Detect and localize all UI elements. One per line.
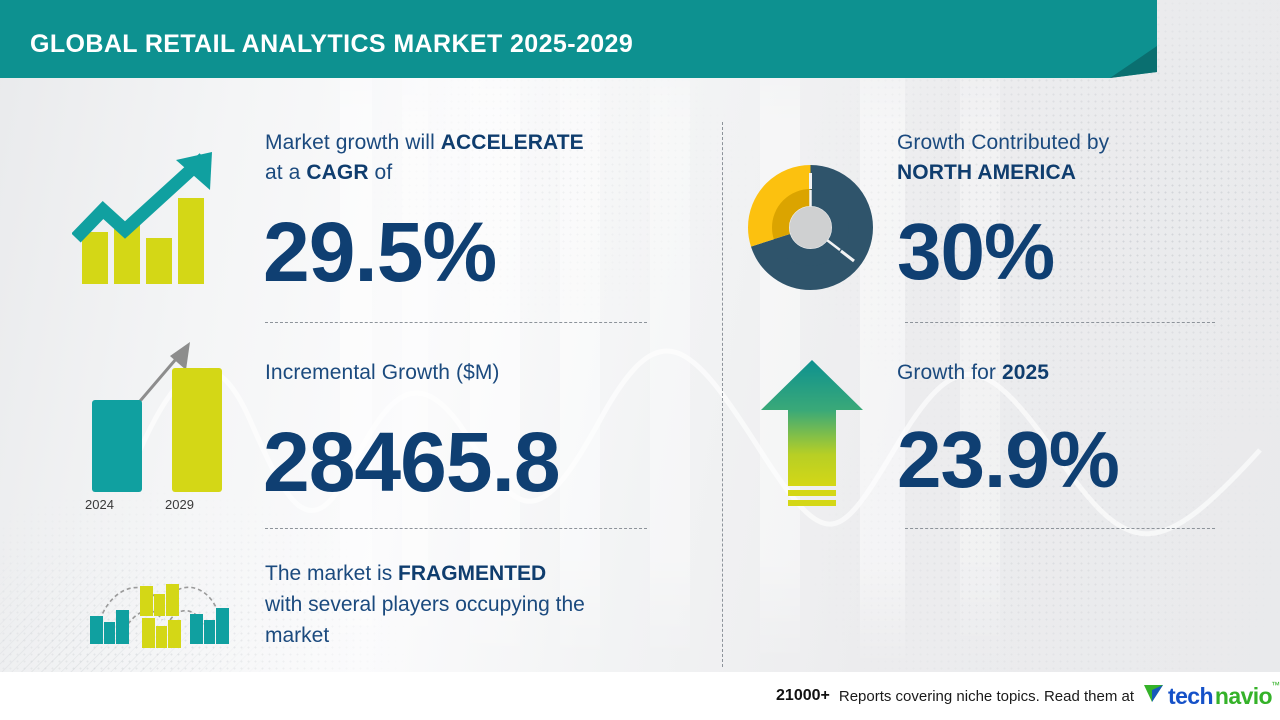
fragmentation-fragmented: FRAGMENTED: [398, 562, 546, 585]
cagr-caption-line2-pre: at a: [265, 161, 306, 184]
bar-label-2029: 2029: [165, 497, 194, 512]
cagr-value: 29.5%: [263, 210, 496, 294]
year-growth-caption-year: 2025: [1002, 361, 1049, 384]
logo-trademark: ™: [1271, 680, 1280, 690]
fragmentation-line1-pre: The market is: [265, 562, 398, 585]
incremental-growth-caption: Incremental Growth ($M): [265, 358, 695, 388]
city-clusters-icon: [72, 558, 247, 658]
logo-text-navio: navio: [1215, 683, 1272, 710]
left-divider-1: [265, 322, 647, 323]
up-arrow-gradient-icon: [760, 358, 865, 518]
donut-chart-icon: [748, 165, 873, 295]
footer-content: 21000+ Reports covering niche topics. Re…: [776, 682, 1272, 710]
region-value: 30%: [897, 212, 1054, 292]
region-caption-line1: Growth Contributed by: [897, 131, 1109, 154]
infographic-page: GLOBAL RETAIL ANALYTICS MARKET 2025-2029…: [0, 0, 1280, 720]
cagr-caption: Market growth will ACCELERATE at a CAGR …: [265, 128, 695, 188]
two-bar-comparison-icon: [60, 332, 230, 497]
cagr-caption-cagr: CAGR: [306, 161, 368, 184]
year-growth-value: 23.9%: [897, 420, 1119, 500]
footer-tagline: Reports covering niche topics. Read them…: [839, 688, 1134, 705]
region-caption-north-america: NORTH AMERICA: [897, 161, 1076, 184]
fragmentation-text: The market is FRAGMENTED with several pl…: [265, 558, 685, 651]
logo-text-tech: tech: [1168, 683, 1213, 710]
bar-label-2024: 2024: [85, 497, 114, 512]
footer-bar: 21000+ Reports covering niche topics. Re…: [0, 672, 1280, 720]
left-divider-2: [265, 528, 647, 529]
cagr-caption-accelerate: ACCELERATE: [441, 131, 584, 154]
incremental-growth-value: 28465.8: [263, 420, 560, 504]
header-banner: GLOBAL RETAIL ANALYTICS MARKET 2025-2029: [0, 0, 1280, 85]
right-divider-2: [905, 528, 1215, 529]
fragmentation-line3: market: [265, 624, 329, 647]
right-divider-1: [905, 322, 1215, 323]
region-caption: Growth Contributed by NORTH AMERICA: [897, 128, 1227, 188]
growth-bar-arrow-icon: [72, 150, 232, 295]
triangle-arrow-icon: [1143, 682, 1165, 704]
fragmentation-line2: with several players occupying the: [265, 593, 585, 616]
page-title: GLOBAL RETAIL ANALYTICS MARKET 2025-2029: [30, 30, 633, 59]
footer-report-count: 21000+: [776, 687, 830, 705]
column-divider: [722, 122, 723, 667]
year-growth-caption-pre: Growth for: [897, 361, 1002, 384]
year-growth-caption: Growth for 2025: [897, 358, 1227, 388]
cagr-caption-line1-pre: Market growth will: [265, 131, 441, 154]
technavio-logo[interactable]: technavio ™: [1143, 682, 1272, 710]
cagr-caption-line2-post: of: [369, 161, 393, 184]
